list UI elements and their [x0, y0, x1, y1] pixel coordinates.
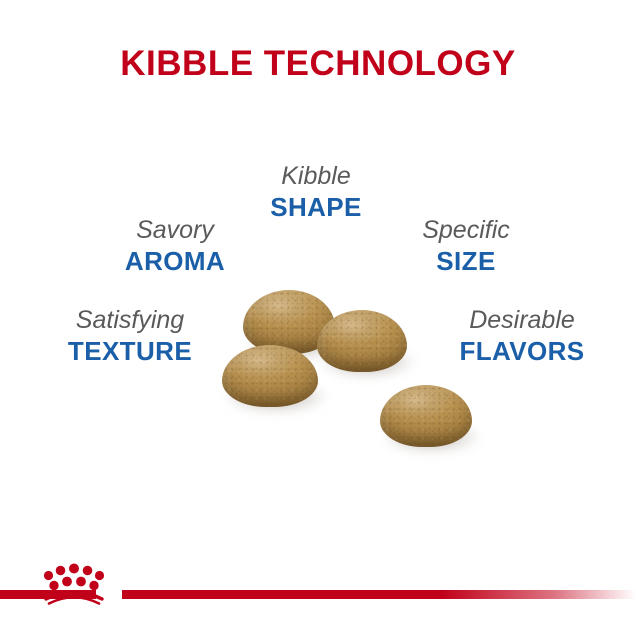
kibble-base-shading: [319, 357, 405, 373]
feature-label-aroma: Savory AROMA: [75, 218, 275, 274]
kibble-base-shading: [224, 392, 316, 408]
feature-adjective: Satisfying: [26, 308, 234, 333]
kibble-body: [243, 290, 335, 354]
footer-rule-right: [122, 590, 636, 599]
kibble-body: [222, 345, 318, 407]
feature-noun: SIZE: [366, 248, 566, 274]
feature-label-flavors: Desirable FLAVORS: [418, 308, 626, 364]
kibble-shadow: [321, 346, 415, 378]
kibble-grain-texture: [243, 290, 335, 354]
kibble-base-shading: [382, 432, 470, 448]
kibble-shadow: [226, 381, 326, 413]
kibble-technology-infographic: KIBBLE TECHNOLOGY: [0, 0, 636, 636]
kibble-shadow: [384, 421, 480, 453]
kibble-grain-texture: [317, 310, 407, 372]
page-title: KIBBLE TECHNOLOGY: [0, 44, 636, 84]
feature-noun: SHAPE: [216, 194, 416, 220]
feature-noun: AROMA: [75, 248, 275, 274]
kibble-piece: [243, 290, 335, 354]
royal-canin-crown-icon: [38, 558, 110, 606]
feature-noun: TEXTURE: [26, 338, 234, 364]
kibble-grain-texture: [380, 385, 472, 447]
feature-label-size: Specific SIZE: [366, 218, 566, 274]
footer: [0, 550, 636, 636]
kibble-piece: [317, 310, 407, 372]
kibble-grain-texture: [222, 345, 318, 407]
kibble-base-shading: [245, 338, 333, 354]
kibble-piece: [222, 345, 318, 407]
feature-adjective: Desirable: [418, 308, 626, 333]
feature-adjective: Kibble: [216, 164, 416, 189]
kibble-body: [380, 385, 472, 447]
feature-adjective: Savory: [75, 218, 275, 243]
feature-label-shape: Kibble SHAPE: [216, 164, 416, 220]
kibble-shadow: [247, 327, 343, 360]
feature-label-texture: Satisfying TEXTURE: [26, 308, 234, 364]
kibble-body: [317, 310, 407, 372]
feature-adjective: Specific: [366, 218, 566, 243]
feature-noun: FLAVORS: [418, 338, 626, 364]
kibble-piece: [380, 385, 472, 447]
